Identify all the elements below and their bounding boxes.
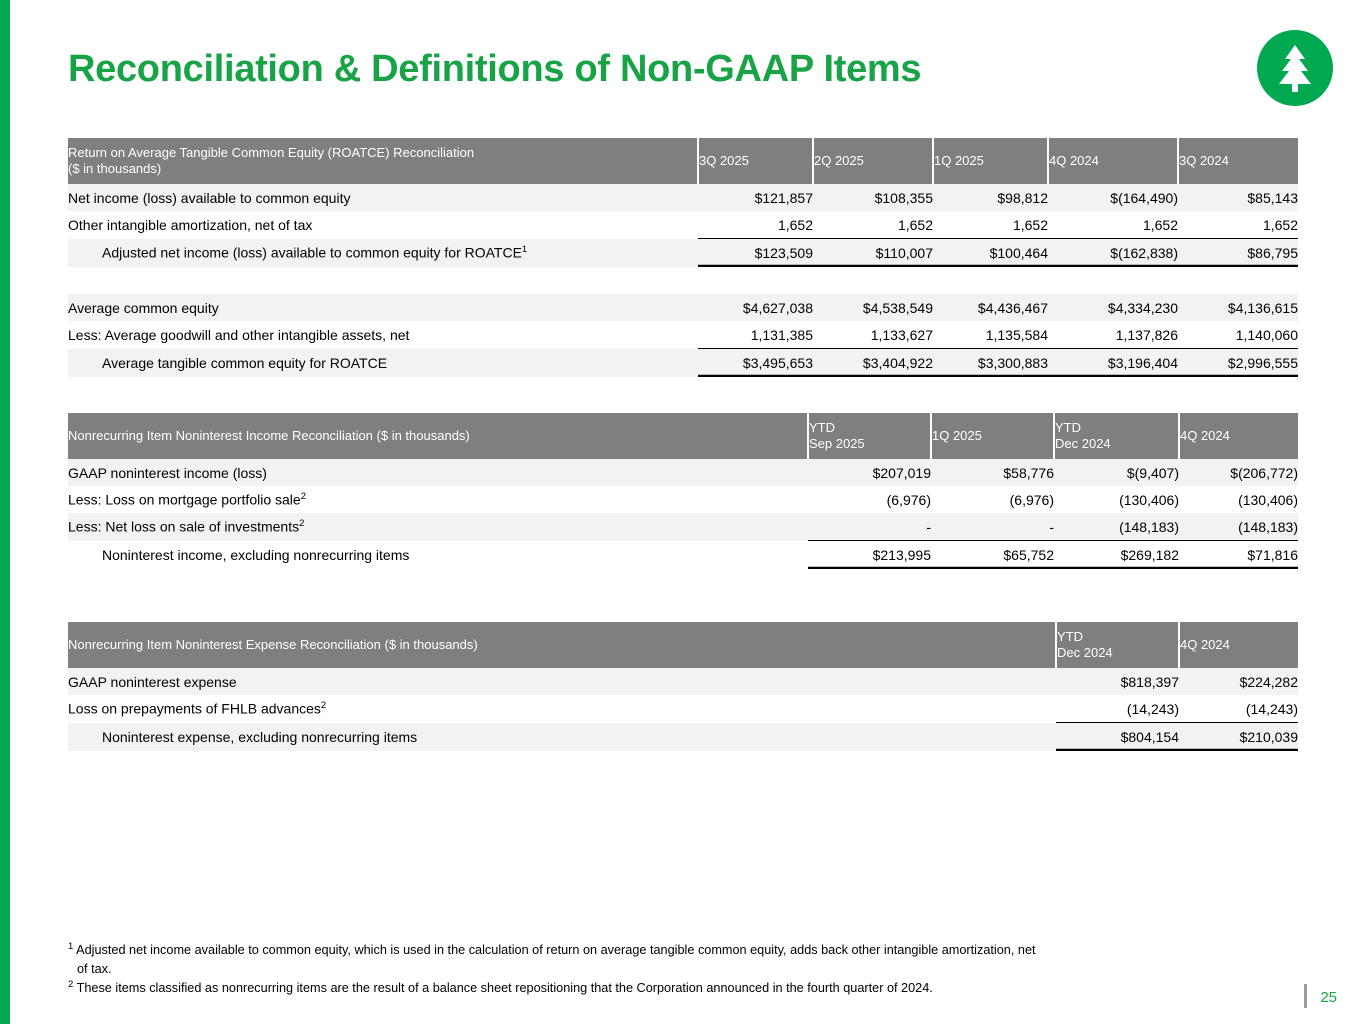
- cell-value: $4,627,038: [698, 294, 813, 321]
- row-label: Average tangible common equity for ROATC…: [68, 349, 698, 377]
- cell-value: $58,776: [931, 459, 1054, 486]
- table3-title-cell: Nonrecurring Item Noninterest Expense Re…: [68, 622, 1056, 668]
- footnote-1-marker: 1: [68, 941, 73, 952]
- table2-title-cell: Nonrecurring Item Noninterest Income Rec…: [68, 413, 808, 459]
- table-row: [68, 267, 1298, 295]
- table-row: GAAP noninterest income (loss)$207,019$5…: [68, 459, 1298, 486]
- evergreen-tree-logo-icon: [1257, 30, 1333, 106]
- cell-value: (6,976): [808, 486, 931, 513]
- cell-value: [933, 267, 1048, 295]
- cell-value: (6,976): [931, 486, 1054, 513]
- row-label: Adjusted net income (loss) available to …: [68, 239, 698, 267]
- cell-value: [1048, 267, 1178, 295]
- cell-value: -: [931, 513, 1054, 541]
- row-label: [68, 267, 698, 295]
- table1-col-3: 4Q 2024: [1048, 138, 1178, 184]
- table-row: Net income (loss) available to common eq…: [68, 184, 1298, 211]
- row-label: Less: Loss on mortgage portfolio sale2: [68, 486, 808, 513]
- cell-value: [698, 267, 813, 295]
- cell-value: $213,995: [808, 541, 931, 569]
- cell-value: $804,154: [1056, 723, 1179, 751]
- cell-value: 1,652: [1178, 211, 1298, 239]
- table-row: Loss on prepayments of FHLB advances2(14…: [68, 695, 1298, 723]
- cell-value: (148,183): [1179, 513, 1298, 541]
- cell-value: 1,652: [933, 211, 1048, 239]
- cell-value: $86,795: [1178, 239, 1298, 267]
- table-row: Less: Average goodwill and other intangi…: [68, 321, 1298, 349]
- row-label: Other intangible amortization, net of ta…: [68, 211, 698, 239]
- page-number: 25: [1320, 989, 1337, 1006]
- table1-title-cell: Return on Average Tangible Common Equity…: [68, 138, 698, 184]
- cell-value: 1,140,060: [1178, 321, 1298, 349]
- table2-col-0-line1: YTD: [809, 420, 930, 436]
- cell-value: $123,509: [698, 239, 813, 267]
- cell-value: (14,243): [1056, 695, 1179, 723]
- table-row: Average tangible common equity for ROATC…: [68, 349, 1298, 377]
- footnote-2: 2 These items classified as nonrecurring…: [68, 978, 1258, 998]
- table1-col-4: 3Q 2024: [1178, 138, 1298, 184]
- cell-value: $3,196,404: [1048, 349, 1178, 377]
- table3-col-0-line1: YTD: [1057, 629, 1178, 645]
- table1-title-line2: ($ in thousands): [68, 161, 697, 177]
- table2-col-3: 4Q 2024: [1179, 413, 1298, 459]
- cell-value: 1,135,584: [933, 321, 1048, 349]
- cell-value: $(164,490): [1048, 184, 1178, 211]
- row-label: Less: Average goodwill and other intangi…: [68, 321, 698, 349]
- cell-value: $3,300,883: [933, 349, 1048, 377]
- row-label: Net income (loss) available to common eq…: [68, 184, 698, 211]
- footnote-2-marker: 2: [68, 979, 73, 990]
- table2-col-0: YTD Sep 2025: [808, 413, 931, 459]
- table2-col-2: YTD Dec 2024: [1054, 413, 1179, 459]
- cell-value: $4,136,615: [1178, 294, 1298, 321]
- table-row: Less: Net loss on sale of investments2--…: [68, 513, 1298, 541]
- cell-value: 1,133,627: [813, 321, 933, 349]
- row-label: Noninterest expense, excluding nonrecurr…: [68, 723, 1056, 751]
- cell-value: $85,143: [1178, 184, 1298, 211]
- row-label: Loss on prepayments of FHLB advances2: [68, 695, 1056, 723]
- cell-value: $4,538,549: [813, 294, 933, 321]
- table2-col-1-line2: 1Q 2025: [932, 428, 1053, 444]
- table-row: Noninterest income, excluding nonrecurri…: [68, 541, 1298, 569]
- cell-value: $65,752: [931, 541, 1054, 569]
- cell-value: $(162,838): [1048, 239, 1178, 267]
- row-label: Less: Net loss on sale of investments2: [68, 513, 808, 541]
- cell-value: $(9,407): [1054, 459, 1179, 486]
- table3-col-1: 4Q 2024: [1179, 622, 1298, 668]
- table-row: Average common equity$4,627,038$4,538,54…: [68, 294, 1298, 321]
- table-header-row: Return on Average Tangible Common Equity…: [68, 138, 1298, 184]
- table-header-row: Nonrecurring Item Noninterest Expense Re…: [68, 622, 1298, 668]
- row-label: GAAP noninterest expense: [68, 668, 1056, 695]
- table-row: Other intangible amortization, net of ta…: [68, 211, 1298, 239]
- cell-value: $100,464: [933, 239, 1048, 267]
- cell-value: (14,243): [1179, 695, 1298, 723]
- table1-col-2: 1Q 2025: [933, 138, 1048, 184]
- table2-col-3-line2: 4Q 2024: [1180, 428, 1298, 444]
- noninterest-expense-reconciliation-table: Nonrecurring Item Noninterest Expense Re…: [68, 622, 1298, 751]
- footnote-1-text: Adjusted net income available to common …: [76, 944, 1035, 958]
- table-row: Noninterest expense, excluding nonrecurr…: [68, 723, 1298, 751]
- slide-canvas: Reconciliation & Definitions of Non-GAAP…: [0, 0, 1365, 1024]
- cell-value: $98,812: [933, 184, 1048, 211]
- noninterest-income-reconciliation-table: Nonrecurring Item Noninterest Income Rec…: [68, 413, 1298, 569]
- cell-value: $3,495,653: [698, 349, 813, 377]
- cell-value: 1,652: [698, 211, 813, 239]
- cell-value: $4,436,467: [933, 294, 1048, 321]
- cell-value: (148,183): [1054, 513, 1179, 541]
- row-label: Average common equity: [68, 294, 698, 321]
- table3-col-0: YTD Dec 2024: [1056, 622, 1179, 668]
- footnote-2-text: These items classified as nonrecurring i…: [77, 982, 933, 996]
- table-row: Adjusted net income (loss) available to …: [68, 239, 1298, 267]
- table1-col-0: 3Q 2025: [698, 138, 813, 184]
- table-row: Less: Loss on mortgage portfolio sale2(6…: [68, 486, 1298, 513]
- table-header-row: Nonrecurring Item Noninterest Income Rec…: [68, 413, 1298, 459]
- table2-col-2-line2: Dec 2024: [1055, 436, 1178, 452]
- cell-value: $108,355: [813, 184, 933, 211]
- cell-value: [813, 267, 933, 295]
- table1-title-line1: Return on Average Tangible Common Equity…: [68, 145, 697, 161]
- cell-value: $3,404,922: [813, 349, 933, 377]
- table3-col-0-line2: Dec 2024: [1057, 645, 1178, 661]
- cell-value: $2,996,555: [1178, 349, 1298, 377]
- row-label: GAAP noninterest income (loss): [68, 459, 808, 486]
- cell-value: $224,282: [1179, 668, 1298, 695]
- left-accent-bar: [0, 0, 10, 1024]
- cell-value: $110,007: [813, 239, 933, 267]
- table2-col-1: 1Q 2025: [931, 413, 1054, 459]
- page-number-separator: [1304, 984, 1307, 1008]
- cell-value: (130,406): [1054, 486, 1179, 513]
- footnote-1-continued: of tax.: [68, 960, 1258, 978]
- cell-value: 1,131,385: [698, 321, 813, 349]
- row-label: Noninterest income, excluding nonrecurri…: [68, 541, 808, 569]
- roatce-reconciliation-table: Return on Average Tangible Common Equity…: [68, 138, 1298, 377]
- cell-value: $207,019: [808, 459, 931, 486]
- table3-col-1-line2: 4Q 2024: [1180, 637, 1298, 653]
- cell-value: $210,039: [1179, 723, 1298, 751]
- table-row: GAAP noninterest expense$818,397$224,282: [68, 668, 1298, 695]
- cell-value: (130,406): [1179, 486, 1298, 513]
- table2-col-0-line2: Sep 2025: [809, 436, 930, 452]
- cell-value: $71,816: [1179, 541, 1298, 569]
- cell-value: $4,334,230: [1048, 294, 1178, 321]
- cell-value: 1,137,826: [1048, 321, 1178, 349]
- page-title: Reconciliation & Definitions of Non-GAAP…: [68, 48, 921, 91]
- table1-col-1: 2Q 2025: [813, 138, 933, 184]
- table2-col-2-line1: YTD: [1055, 420, 1178, 436]
- cell-value: 1,652: [813, 211, 933, 239]
- cell-value: $121,857: [698, 184, 813, 211]
- cell-value: -: [808, 513, 931, 541]
- footnote-1: 1 Adjusted net income available to commo…: [68, 940, 1258, 960]
- cell-value: [1178, 267, 1298, 295]
- cell-value: $269,182: [1054, 541, 1179, 569]
- cell-value: $818,397: [1056, 668, 1179, 695]
- cell-value: 1,652: [1048, 211, 1178, 239]
- footnotes-block: 1 Adjusted net income available to commo…: [68, 940, 1258, 998]
- cell-value: $(206,772): [1179, 459, 1298, 486]
